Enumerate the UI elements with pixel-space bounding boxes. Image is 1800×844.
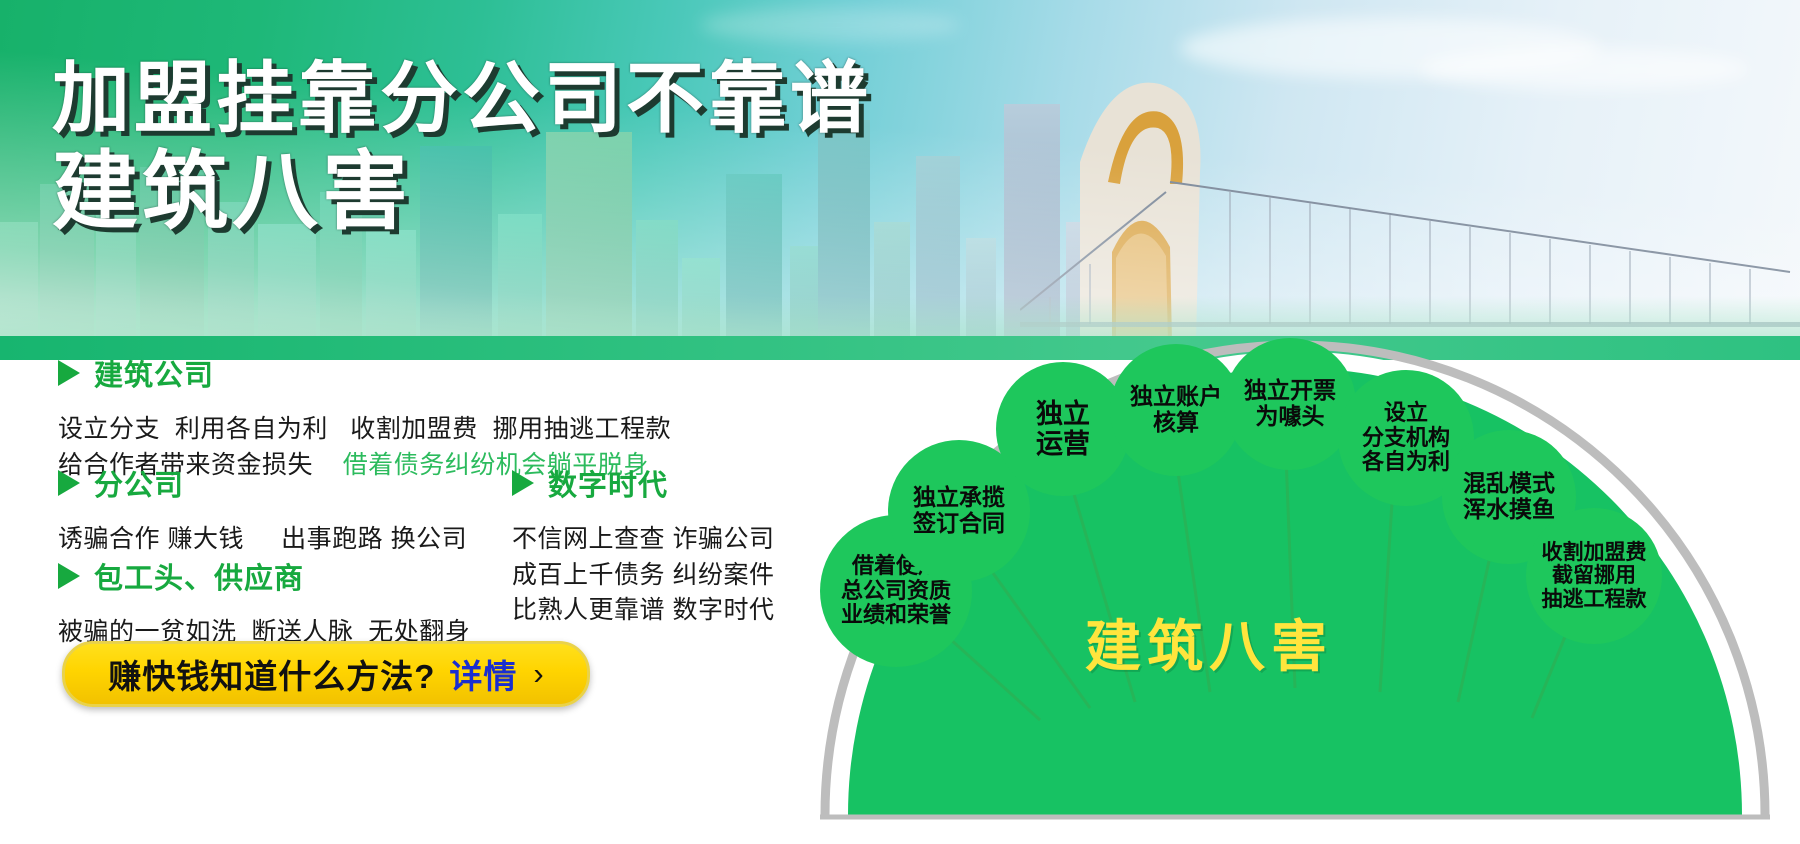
dome-title: 建筑八害 [1085,602,1333,683]
body-line: 比熟人更靠谱 数字时代 [512,593,774,629]
body-line: 不信网上查查 诈骗公司 [512,522,774,558]
banner-title-line2: 建筑八害 [52,146,872,239]
section-contractor-supplier: 包工头、供应商 被骗的一贫如洗 断送人脉 无处翻身 [58,555,470,651]
section-header: 建筑公司 [58,352,671,394]
cta-detail-link[interactable]: 详情 [449,650,517,698]
section-title: 包工头、供应商 [94,555,304,597]
section-digital-era: 数字时代 不信网上查查 诈骗公司 成百上千债务 纠纷案件 比熟人更靠谱 数字时代 [512,462,774,629]
bubble-line: 独立账户 [1130,384,1222,410]
section-header: 分公司 [58,462,467,504]
body-text: 不信网上查查 诈骗公司 [512,525,774,553]
section-body: 不信网上查查 诈骗公司 成百上千债务 纠纷案件 比熟人更靠谱 数字时代 [512,522,774,629]
bubble-line: 混乱模式 [1463,471,1555,497]
bubble-independent-invoice[interactable]: 独立开票 为噱头 [1224,338,1356,470]
bubble-line: 运营 [1036,429,1090,459]
body-line: 设立分支 利用各自为利 收割加盟费 挪用抽逃工程款 [58,412,671,448]
section-title: 建筑公司 [94,352,214,394]
body-text: 比熟人更靠谱 数字时代 [512,596,774,624]
section-header: 数字时代 [512,462,774,504]
poster-root: 加盟挂靠分公司不靠谱 建筑八害 建筑公司 设立分支 利用各自为利 收割加盟费 挪… [0,0,1800,844]
bubble-line: 收割加盟费 [1542,541,1647,565]
banner-title-line1: 加盟挂靠分公司不靠谱 [52,56,872,140]
section-branch-company: 分公司 诱骗合作 赚大钱 出事跑路 换公司 [58,462,467,558]
triangle-bullet-icon [58,563,80,589]
section-title: 数字时代 [548,462,668,504]
triangle-bullet-icon [512,470,534,496]
bubble-line: 浑水摸鱼 [1463,497,1555,523]
body-text: 成百上千债务 纠纷案件 [512,561,774,589]
bubble-line: 独立承揽 [913,485,1005,511]
left-content-panel: 建筑公司 设立分支 利用各自为利 收割加盟费 挪用抽逃工程款 给合作者带来资金损… [0,360,800,844]
chevron-right-icon: › [533,656,543,692]
bubble-independent-operation[interactable]: 独立 运营 [996,362,1130,496]
hero-banner: 加盟挂靠分公司不靠谱 建筑八害 [0,0,1800,360]
bubble-harvest-fee[interactable]: 收割加盟费 截留挪用 抽逃工程款 [1526,508,1662,644]
cta-button[interactable]: 赚快钱知道什么方法? 详情 › [62,641,590,707]
bubble-line: 核算 [1130,410,1222,436]
bubble-line: 总公司资质 [841,579,951,604]
bubble-line: 独立 [1036,399,1090,429]
cta-main-label: 赚快钱知道什么方法? [108,650,435,698]
body-text: 诱骗合作 赚大钱 出事跑路 换公司 [58,525,467,553]
triangle-bullet-icon [58,360,80,386]
bubble-line: 各自为利 [1362,450,1450,475]
bubble-line: 独立开票 [1244,378,1336,404]
body-line: 诱骗合作 赚大钱 出事跑路 换公司 [58,522,467,558]
body-text: 设立分支 利用各自为利 收割加盟费 挪用抽逃工程款 [58,415,671,443]
section-body: 诱骗合作 赚大钱 出事跑路 换公司 [58,522,467,558]
section-header: 包工头、供应商 [58,555,470,597]
body-line: 成百上千债务 纠纷案件 [512,558,774,594]
section-title: 分公司 [94,462,184,504]
bubble-line: 为噱头 [1244,404,1336,430]
bubble-line: 分支机构 [1362,426,1450,451]
bubble-line: 业绩和荣誉 [841,603,951,628]
bubble-line: 截留挪用 [1542,564,1647,588]
bubble-line: 设立 [1362,401,1450,426]
bubble-independent-account[interactable]: 独立账户 核算 [1110,344,1242,476]
banner-title: 加盟挂靠分公司不靠谱 建筑八害 [52,56,872,239]
bubble-line: 抽逃工程款 [1542,588,1647,612]
diagram-panel: 建筑八害 借着使用 总公司资质 业绩和荣誉 独立承揽 签订合同 独立 运营 独立… [790,330,1800,844]
bubble-line: 签订合同 [913,511,1005,537]
triangle-bullet-icon [58,470,80,496]
